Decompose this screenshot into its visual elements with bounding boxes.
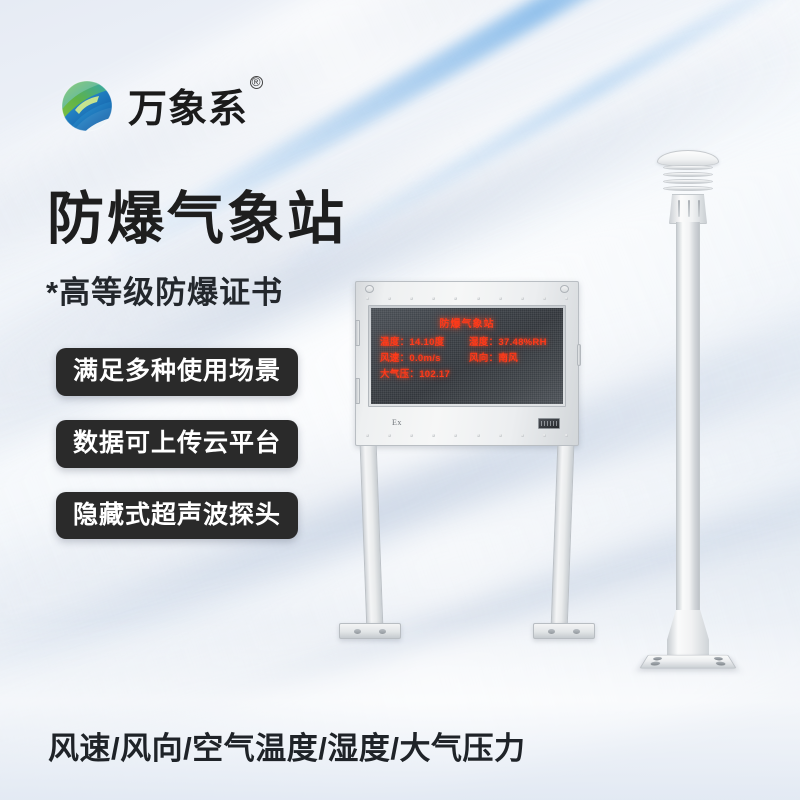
sensor-slot-icon — [698, 200, 700, 217]
latch-handle-icon — [577, 344, 581, 366]
brand-name-text: 万象系 — [128, 88, 248, 131]
led-empty-value — [469, 367, 554, 383]
page-title: 防爆气象站 — [47, 191, 347, 248]
feature-badge: 满足多种使用场景 — [56, 348, 298, 396]
top-bolt-row — [366, 297, 568, 300]
screen-bezel: 防爆气象站 温度：14.10度 湿度：37.48%RH 风速：0.0m/s 风向… — [368, 305, 566, 407]
stand-leg-left — [360, 446, 384, 626]
lifting-eyelet-icon — [560, 285, 569, 293]
display-unit-product-photo: 防爆气象站 温度：14.10度 湿度：37.48%RH 风速：0.0m/s 风向… — [333, 281, 601, 666]
mast-pole — [676, 222, 700, 617]
led-readout-row: 温度：14.10度 湿度：37.48%RH — [380, 335, 554, 351]
bolt-icon — [454, 434, 457, 437]
explosion-proof-enclosure: 防爆气象站 温度：14.10度 湿度：37.48%RH 风速：0.0m/s 风向… — [355, 281, 579, 446]
bolt-icon — [366, 297, 369, 300]
bolt-icon — [499, 297, 502, 300]
page-subtitle: *高等级防爆证书 — [46, 277, 283, 308]
louver-ring-icon — [663, 179, 713, 184]
bolt-icon — [521, 434, 524, 437]
bolt-icon — [388, 297, 391, 300]
led-temperature-value: 温度：14.10度 — [380, 335, 469, 351]
registered-trademark-icon: ® — [250, 76, 263, 89]
louver-ring-icon — [663, 186, 713, 191]
led-humidity-value: 湿度：37.48%RH — [469, 335, 554, 351]
radiation-shield-louvers — [663, 165, 713, 195]
sensor-mast-product-photo — [630, 150, 745, 670]
bolt-icon — [477, 297, 480, 300]
stand-foot-left — [339, 623, 401, 639]
lifting-eyelet-icon — [365, 285, 374, 293]
bolt-icon — [410, 297, 413, 300]
led-pressure-value: 大气压：102.17 — [380, 367, 469, 383]
led-wind-speed-value: 风速：0.0m/s — [380, 351, 469, 367]
bolt-icon — [543, 434, 546, 437]
louver-ring-icon — [663, 165, 713, 170]
brand-logo: 万象系 ® — [57, 76, 248, 136]
led-screen-title: 防爆气象站 — [371, 315, 563, 330]
bolt-icon — [565, 434, 568, 437]
base-bolt-hole-icon — [650, 662, 661, 666]
bolt-icon — [499, 434, 502, 437]
mounting-base-plate-icon — [639, 655, 736, 669]
feature-list: 满足多种使用场景 数据可上传云平台 隐藏式超声波探头 — [56, 348, 298, 539]
globe-swirl-logo-icon — [57, 76, 117, 136]
bolt-icon — [388, 434, 391, 437]
mast-base-taper — [667, 610, 709, 658]
bolt-icon — [410, 434, 413, 437]
nameplate-label-icon — [538, 418, 560, 429]
hinge-icon — [355, 320, 360, 346]
bolt-icon — [521, 297, 524, 300]
sensor-slot-icon — [688, 200, 690, 217]
base-bolt-hole-icon — [652, 657, 662, 660]
hinge-icon — [355, 378, 360, 404]
ex-marking-label: Ex — [392, 418, 402, 427]
led-wind-direction-value: 风向：南风 — [469, 351, 554, 367]
base-bolt-hole-icon — [715, 662, 726, 666]
base-bolt-hole-icon — [713, 657, 723, 660]
product-capability-tagline: 风速/风向/空气温度/湿度/大气压力 — [48, 723, 525, 768]
ultrasonic-sensor-body — [669, 194, 707, 224]
led-readout-list: 温度：14.10度 湿度：37.48%RH 风速：0.0m/s 风向：南风 大气… — [371, 335, 563, 383]
feature-badge: 隐藏式超声波探头 — [56, 492, 298, 540]
brand-name: 万象系 ® — [128, 78, 248, 134]
bolt-icon — [454, 297, 457, 300]
feature-badge: 数据可上传云平台 — [56, 420, 298, 468]
bolt-icon — [565, 297, 568, 300]
led-matrix-screen: 防爆气象站 温度：14.10度 湿度：37.48%RH 风速：0.0m/s 风向… — [371, 308, 563, 404]
bolt-icon — [477, 434, 480, 437]
bolt-icon — [432, 434, 435, 437]
bolt-icon — [366, 434, 369, 437]
stand-foot-right — [533, 623, 595, 639]
bolt-icon — [543, 297, 546, 300]
led-readout-row: 风速：0.0m/s 风向：南风 — [380, 351, 554, 367]
led-readout-row: 大气压：102.17 — [380, 367, 554, 383]
bolt-icon — [432, 297, 435, 300]
sensor-slot-icon — [678, 200, 680, 217]
louver-ring-icon — [663, 172, 713, 177]
stand-leg-right — [551, 446, 575, 626]
bottom-bolt-row — [366, 434, 568, 437]
